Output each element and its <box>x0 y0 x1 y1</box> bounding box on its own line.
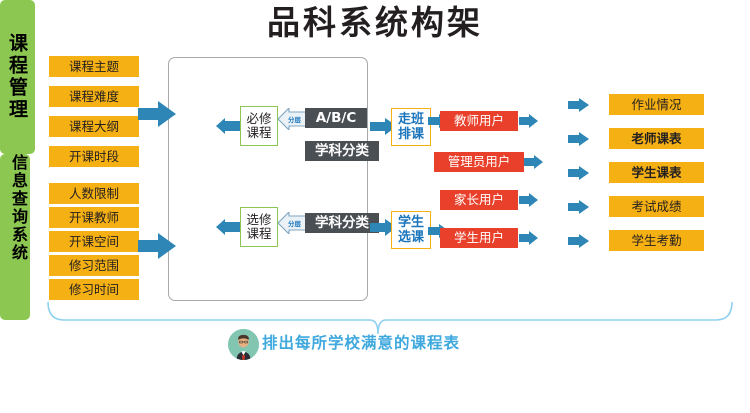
avatar <box>228 329 259 360</box>
user-student-box[interactable]: 学生用户 <box>440 228 518 248</box>
output-homework-status[interactable]: 作业情况 <box>609 94 704 115</box>
arrow-info-to-student-timetable <box>568 166 590 180</box>
output-exam-scores[interactable]: 考试成绩 <box>609 196 704 217</box>
required-course-label-1: 必修 <box>246 112 271 126</box>
list-item-study-scope[interactable]: 修习范围 <box>49 255 139 276</box>
output-student-timetable[interactable]: 学生课表 <box>609 162 704 183</box>
student-select-label-1: 学生 <box>398 215 424 230</box>
list-item-course-teacher[interactable]: 开课教师 <box>49 207 139 228</box>
page-title: 品科系统构架 <box>0 2 750 44</box>
elective-course-box[interactable]: 选修 课程 <box>240 207 278 247</box>
course-management-frame <box>168 57 368 301</box>
person-icon <box>228 329 259 360</box>
list-item-headcount-limit[interactable]: 人数限制 <box>49 183 139 204</box>
student-course-selection-box[interactable]: 学生 选课 <box>391 211 431 249</box>
tier-label-top: 分层 <box>288 114 301 124</box>
user-admin-box[interactable]: 管理员用户 <box>434 152 524 172</box>
arrow-info-to-exam-scores <box>568 200 590 214</box>
info-query-system-block[interactable]: 信息查询系统 <box>0 154 30 320</box>
diagram-canvas: 品科系统构架 课程主题 课程难度 课程大纲 开课时段 人数限制 开课教师 开课空… <box>0 0 750 413</box>
list-item-course-period[interactable]: 开课时段 <box>49 146 139 167</box>
list-item-course-outline[interactable]: 课程大纲 <box>49 116 139 137</box>
user-parent-box[interactable]: 家长用户 <box>440 190 518 210</box>
arrow-group-a-to-core <box>138 100 178 128</box>
arrow-elective-to-core <box>216 219 241 235</box>
tier-label-bottom: 分层 <box>288 218 301 228</box>
user-teacher-box[interactable]: 教师用户 <box>440 111 518 131</box>
list-item-course-difficulty[interactable]: 课程难度 <box>49 86 139 107</box>
rotate-class-label-2: 排课 <box>398 127 424 142</box>
arrow-info-to-attendance <box>568 234 590 248</box>
abc-tier-box[interactable]: A/B/C <box>305 108 367 128</box>
arrow-teacher-to-info <box>519 114 539 128</box>
rotate-class-label-1: 走班 <box>398 112 424 127</box>
summary-caption: 排出每所学校满意的课程表 <box>262 331 460 353</box>
rotate-class-scheduling-box[interactable]: 走班 排课 <box>391 108 431 146</box>
student-select-label-2: 选课 <box>398 230 424 245</box>
subject-classification-box-bottom[interactable]: 学科分类 <box>305 213 379 233</box>
elective-course-label-2: 课程 <box>246 227 271 241</box>
list-item-study-time[interactable]: 修习时间 <box>49 279 139 300</box>
list-item-course-topic[interactable]: 课程主题 <box>49 56 139 77</box>
subject-classification-box-top[interactable]: 学科分类 <box>305 141 379 161</box>
arrow-required-to-core <box>216 118 241 134</box>
elective-course-label-1: 选修 <box>246 213 271 227</box>
output-student-attendance[interactable]: 学生考勤 <box>609 230 704 251</box>
arrow-info-to-homework <box>568 98 590 112</box>
arrow-parent-to-info <box>519 193 539 207</box>
required-course-label-2: 课程 <box>246 126 271 140</box>
arrow-info-to-teacher-timetable <box>568 132 590 146</box>
required-course-box[interactable]: 必修 课程 <box>240 106 278 146</box>
arrow-group-b-to-core <box>138 232 178 260</box>
arrow-student-to-info <box>519 231 539 245</box>
arrow-admin-to-info <box>524 155 544 169</box>
list-item-course-space[interactable]: 开课空间 <box>49 231 139 252</box>
output-teacher-timetable[interactable]: 老师课表 <box>609 128 704 149</box>
